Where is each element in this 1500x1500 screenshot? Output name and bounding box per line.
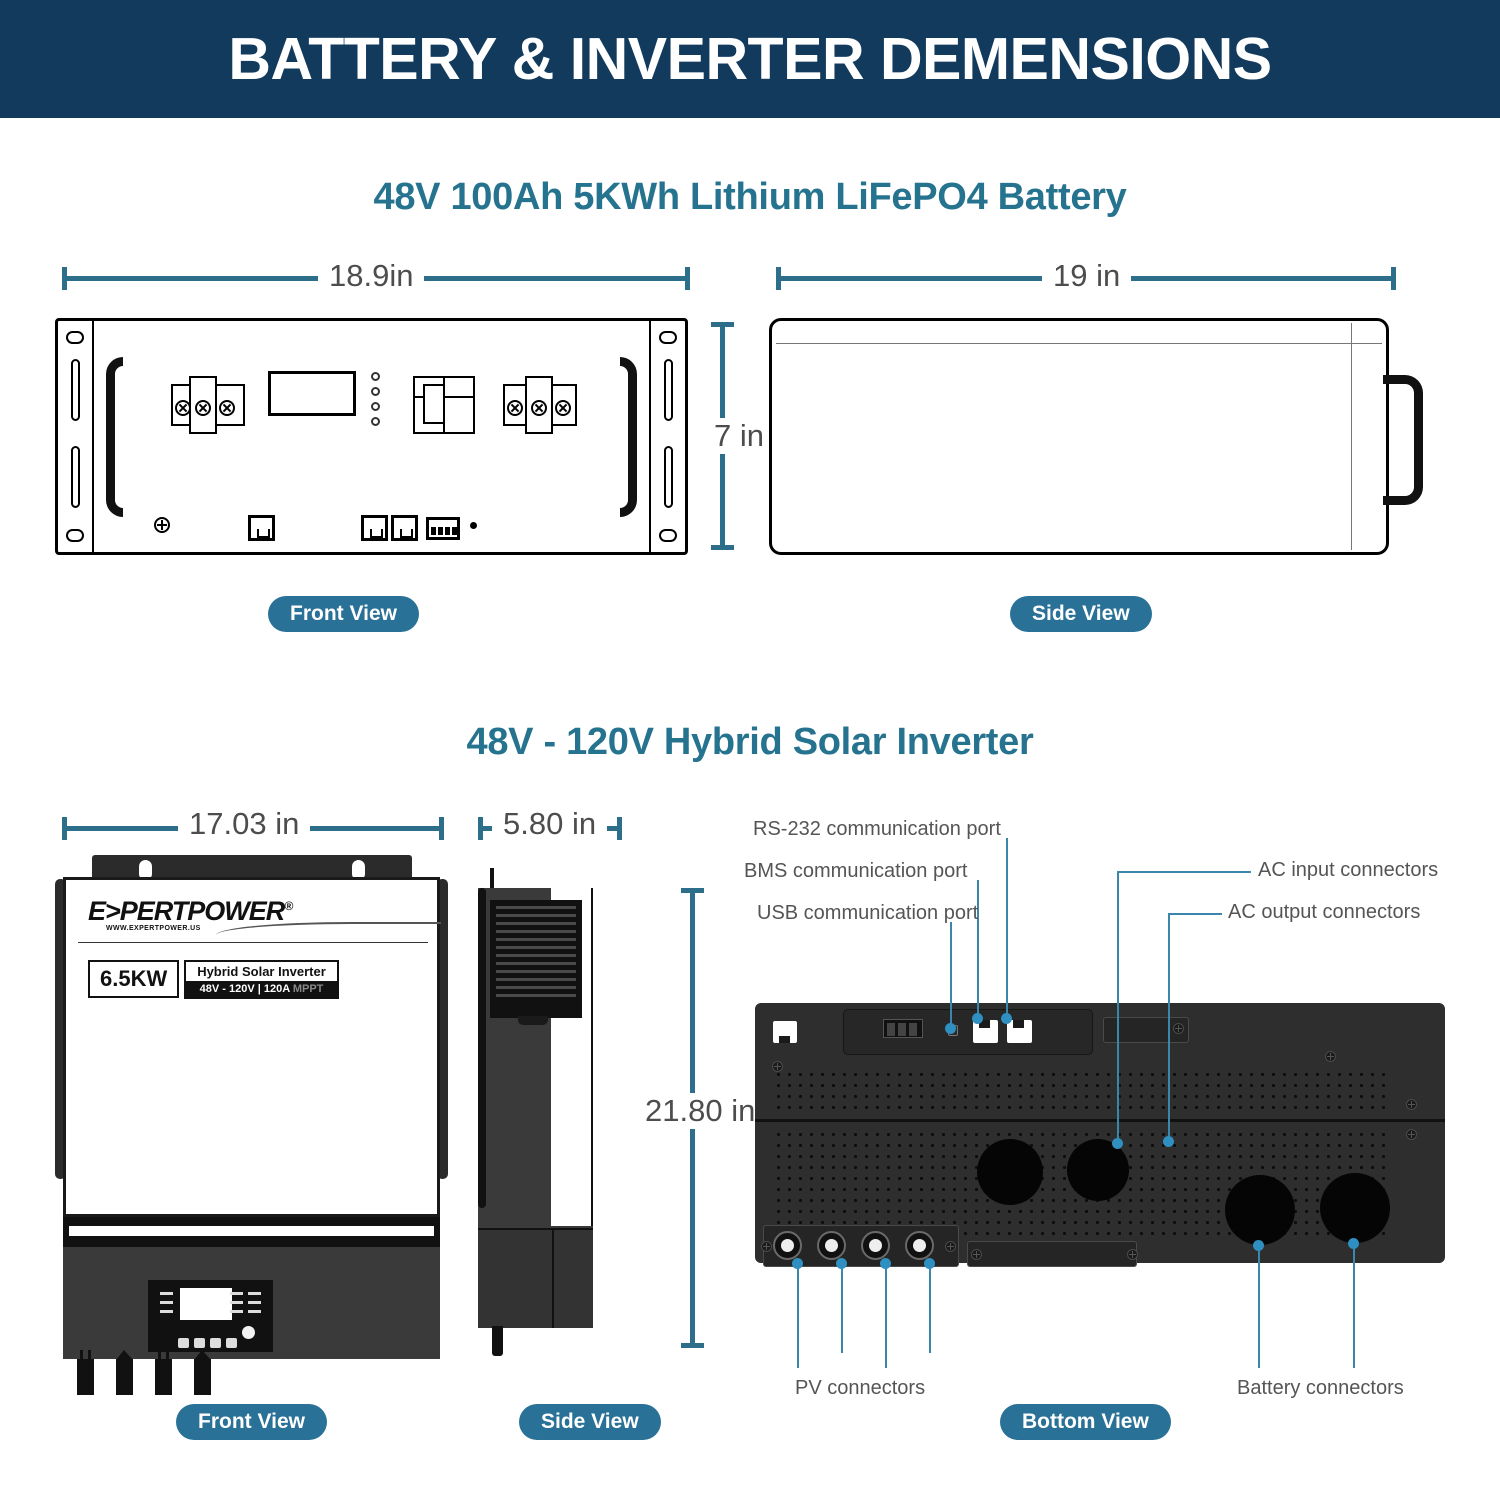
terminal-block-port	[883, 1019, 923, 1038]
mount-slot-icon	[664, 359, 673, 421]
callout-leader-ac-output-v	[1168, 913, 1170, 1141]
inverter-function-button[interactable]	[194, 1338, 205, 1348]
callout-dot-pv	[880, 1258, 891, 1269]
screw-icon	[772, 1061, 783, 1072]
battery-mount-ear-left	[58, 321, 94, 552]
pv-connector	[861, 1231, 890, 1260]
inverter-control-panel	[148, 1280, 273, 1352]
inverter-pv-connector	[155, 1359, 172, 1395]
screw-icon	[1325, 1051, 1336, 1062]
battery-led-indicator	[371, 402, 380, 411]
lower-access-plate	[967, 1241, 1137, 1267]
callout-dot-bms	[972, 1013, 983, 1024]
page-header: BATTERY & INVERTER DEMENSIONS	[0, 0, 1500, 118]
mount-hole-icon	[659, 529, 677, 542]
callout-label-rs232: RS-232 communication port	[753, 818, 1001, 841]
led-indicator	[160, 1310, 173, 1313]
led-indicator	[230, 1292, 243, 1295]
callout-leader-rs232	[1006, 838, 1008, 1018]
inverter-section-title: 48V - 120V Hybrid Solar Inverter	[0, 721, 1500, 764]
mount-hole-icon	[659, 331, 677, 344]
callout-dot-battery	[1348, 1238, 1359, 1249]
callout-leader-usb	[950, 922, 952, 1028]
battery-status-led	[470, 522, 477, 529]
led-indicator	[160, 1292, 173, 1295]
callout-leader-battery	[1258, 1250, 1260, 1368]
callout-label-ac-input: AC input connectors	[1258, 859, 1438, 882]
callout-leader-pv	[841, 1268, 843, 1353]
spec-badge-values: 48V - 120V | 120A MPPT	[186, 981, 337, 997]
battery-side-handle	[1383, 375, 1423, 505]
callout-leader-ac-input-v	[1117, 871, 1119, 1143]
screw-icon	[945, 1241, 956, 1252]
inverter-lcd-screen	[180, 1288, 232, 1320]
inverter-side-height-label: 21.80 in	[634, 1093, 766, 1129]
callout-leader-pv	[885, 1268, 887, 1368]
inverter-front-panel: E>PERTPOWER® WWW.EXPERTPOWER.US 6.5KW Hy…	[63, 877, 440, 1217]
terminal-screw-icon	[555, 400, 571, 416]
battery-rj45-port	[361, 515, 388, 541]
terminal-screw-icon	[507, 400, 523, 416]
inverter-side-view-badge: Side View	[519, 1404, 661, 1440]
battery-led-indicator	[371, 387, 380, 396]
battery-rj45-port	[391, 515, 418, 541]
battery-front-width-label: 18.9in	[318, 258, 424, 294]
led-indicator	[248, 1301, 261, 1304]
mount-slot-icon	[664, 446, 673, 508]
terminal-screw-icon	[219, 400, 235, 416]
callout-label-pv: PV connectors	[795, 1377, 925, 1400]
callout-dot-ac-output	[1163, 1136, 1174, 1147]
battery-front-view-badge: Front View	[268, 596, 419, 632]
inverter-function-button[interactable]	[226, 1338, 237, 1348]
callout-label-usb: USB communication port	[757, 902, 978, 925]
screw-icon	[1127, 1249, 1138, 1260]
rs232-communication-port	[1007, 1020, 1032, 1043]
battery-dip-switch	[426, 517, 460, 540]
upper-ventilation-grid	[773, 1069, 1393, 1113]
callout-leader-bms	[977, 880, 979, 1018]
callout-dot-battery	[1253, 1240, 1264, 1251]
inverter-bottom-view-drawing	[755, 1003, 1445, 1263]
battery-section-title: 48V 100Ah 5KWh Lithium LiFePO4 Battery	[0, 176, 1500, 219]
screw-icon	[1173, 1023, 1184, 1034]
inverter-front-width-label: 17.03 in	[178, 806, 310, 842]
inverter-function-button[interactable]	[178, 1338, 189, 1348]
battery-side-view-badge: Side View	[1010, 596, 1152, 632]
battery-side-seam	[776, 343, 1382, 344]
screw-icon	[971, 1249, 982, 1260]
battery-lcd-display	[268, 371, 356, 416]
usb-communication-port	[773, 1021, 797, 1043]
callout-leader-ac-input-h	[1117, 871, 1251, 873]
callout-dot-usb	[945, 1023, 956, 1034]
battery-front-view-drawing	[55, 318, 688, 555]
callout-dot-pv	[924, 1258, 935, 1269]
inverter-pv-connector	[116, 1359, 133, 1395]
screw-icon	[761, 1241, 772, 1252]
mount-slot-icon	[71, 359, 80, 421]
registered-trademark-icon: ®	[284, 899, 292, 913]
pv-connector	[905, 1231, 934, 1260]
terminal-screw-icon	[531, 400, 547, 416]
callout-label-ac-output: AC output connectors	[1228, 901, 1420, 924]
battery-handle-right	[620, 357, 637, 517]
battery-side-end-seam	[1351, 323, 1352, 550]
callout-dot-ac-input	[1112, 1138, 1123, 1149]
led-indicator	[230, 1301, 243, 1304]
battery-mount-ear-right	[649, 321, 685, 552]
inverter-front-view-drawing: E>PERTPOWER® WWW.EXPERTPOWER.US 6.5KW Hy…	[55, 855, 448, 1345]
inverter-vent-grille	[490, 900, 582, 1018]
inverter-bottom-view-badge: Bottom View	[1000, 1404, 1171, 1440]
pv-connector	[817, 1231, 846, 1260]
battery-handle-left	[106, 357, 123, 517]
led-indicator	[230, 1310, 243, 1313]
led-indicator	[160, 1301, 173, 1304]
terminal-screw-icon	[175, 400, 191, 416]
inverter-lower-housing	[63, 1247, 440, 1359]
brand-logo-text: E>PERTPOWER®	[88, 896, 288, 927]
battery-positive-terminal-block	[503, 376, 577, 434]
battery-connector-hole	[1225, 1175, 1295, 1245]
battery-led-indicator	[371, 372, 380, 381]
battery-connector-hole	[1320, 1173, 1390, 1243]
ac-input-connector-hole	[977, 1139, 1043, 1205]
callout-label-bms: BMS communication port	[744, 860, 967, 883]
ground-symbol-icon	[154, 517, 170, 533]
port-bay-recess	[843, 1009, 1093, 1055]
callout-dot-pv	[836, 1258, 847, 1269]
inverter-function-button[interactable]	[210, 1338, 221, 1348]
inverter-pv-connector	[194, 1359, 211, 1395]
callout-leader-pv	[797, 1268, 799, 1368]
inverter-side-view-drawing	[478, 868, 593, 1348]
battery-negative-terminal-block	[171, 376, 245, 434]
inverter-pv-connector	[77, 1359, 94, 1395]
callout-dot-pv	[792, 1258, 803, 1269]
battery-side-view-drawing	[769, 318, 1389, 555]
screw-icon	[1406, 1099, 1417, 1110]
callout-leader-ac-output-h	[1168, 913, 1222, 915]
screw-icon	[1406, 1129, 1417, 1140]
callout-dot-rs232	[1001, 1013, 1012, 1024]
inverter-front-view-badge: Front View	[176, 1404, 327, 1440]
inverter-power-button[interactable]	[242, 1326, 255, 1339]
battery-side-width-label: 19 in	[1042, 258, 1131, 294]
callout-leader-battery	[1353, 1248, 1355, 1368]
terminal-screw-icon	[195, 400, 211, 416]
mount-slot-icon	[71, 446, 80, 508]
inverter-accent-stripe	[63, 1217, 440, 1247]
power-rating-badge: 6.5KW	[88, 960, 179, 998]
battery-led-indicator	[371, 417, 380, 426]
inverter-side-width-label: 5.80 in	[492, 806, 607, 842]
inverter-side-cable	[492, 1326, 503, 1356]
spec-badge-title: Hybrid Solar Inverter	[186, 962, 337, 981]
led-indicator	[248, 1310, 261, 1313]
page-title: BATTERY & INVERTER DEMENSIONS	[228, 25, 1271, 93]
housing-divider	[755, 1119, 1445, 1122]
logo-underline-decor	[78, 942, 428, 943]
spec-badge: Hybrid Solar Inverter 48V - 120V | 120A …	[184, 960, 339, 999]
callout-leader-pv	[929, 1268, 931, 1353]
inverter-vent-tab	[518, 1016, 548, 1025]
battery-breaker-switch	[413, 376, 475, 434]
battery-rj45-port	[248, 515, 275, 541]
inverter-side-edge-rail	[478, 888, 486, 1208]
pv-connector	[773, 1231, 802, 1260]
mount-hole-icon	[66, 529, 84, 542]
led-indicator	[248, 1292, 261, 1295]
mount-hole-icon	[66, 331, 84, 344]
battery-front-height-label: 7 in	[703, 418, 775, 454]
callout-label-battery: Battery connectors	[1237, 1377, 1404, 1400]
inverter-side-lower-housing	[478, 1228, 593, 1328]
